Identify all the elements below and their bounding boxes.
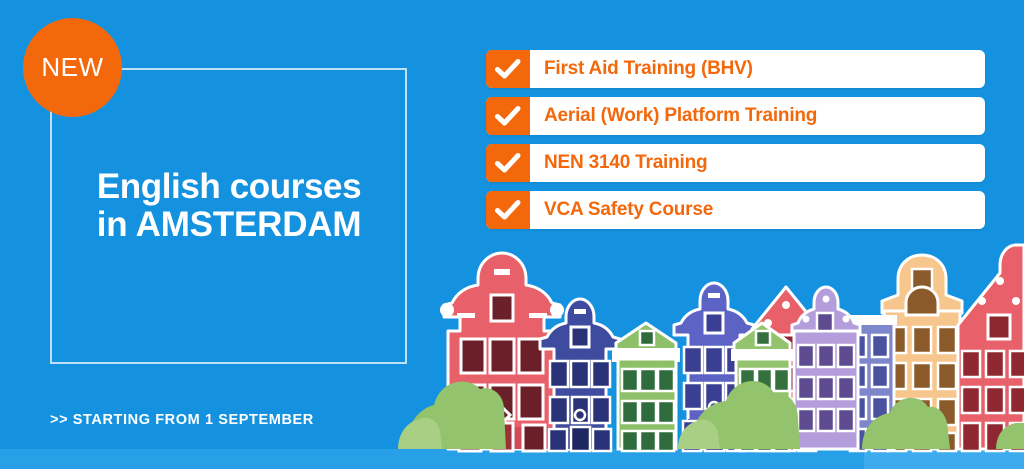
check-icon [486, 50, 530, 88]
list-item-label: First Aid Training (BHV) [530, 50, 985, 88]
list-item-label: NEN 3140 Training [530, 144, 985, 182]
promo-banner: NEW English courses in AMSTERDAM >> STAR… [0, 0, 1024, 469]
list-item[interactable]: Aerial (Work) Platform Training [486, 97, 985, 135]
page-title: English courses in AMSTERDAM [52, 168, 406, 244]
new-badge: NEW [23, 18, 122, 117]
new-badge-label: NEW [41, 52, 103, 83]
house-red-right [958, 245, 1024, 451]
house-navy [540, 299, 620, 451]
check-icon [486, 144, 530, 182]
list-item-label: VCA Safety Course [530, 191, 985, 229]
list-item[interactable]: First Aid Training (BHV) [486, 50, 985, 88]
list-item[interactable]: VCA Safety Course [486, 191, 985, 229]
house-green [613, 323, 679, 451]
starting-date-note: >> STARTING FROM 1 SEPTEMBER [50, 412, 314, 428]
bush-left [398, 382, 506, 449]
headline-line-2: in AMSTERDAM [52, 206, 406, 244]
check-icon [486, 191, 530, 229]
headline-line-2-prefix: in [97, 205, 136, 244]
headline-city: AMSTERDAM [136, 205, 362, 244]
list-item[interactable]: NEN 3140 Training [486, 144, 985, 182]
course-checklist: First Aid Training (BHV) Aerial (Work) P… [486, 50, 985, 238]
headline-line-1: English courses [52, 168, 406, 206]
check-icon [486, 97, 530, 135]
list-item-label: Aerial (Work) Platform Training [530, 97, 985, 135]
